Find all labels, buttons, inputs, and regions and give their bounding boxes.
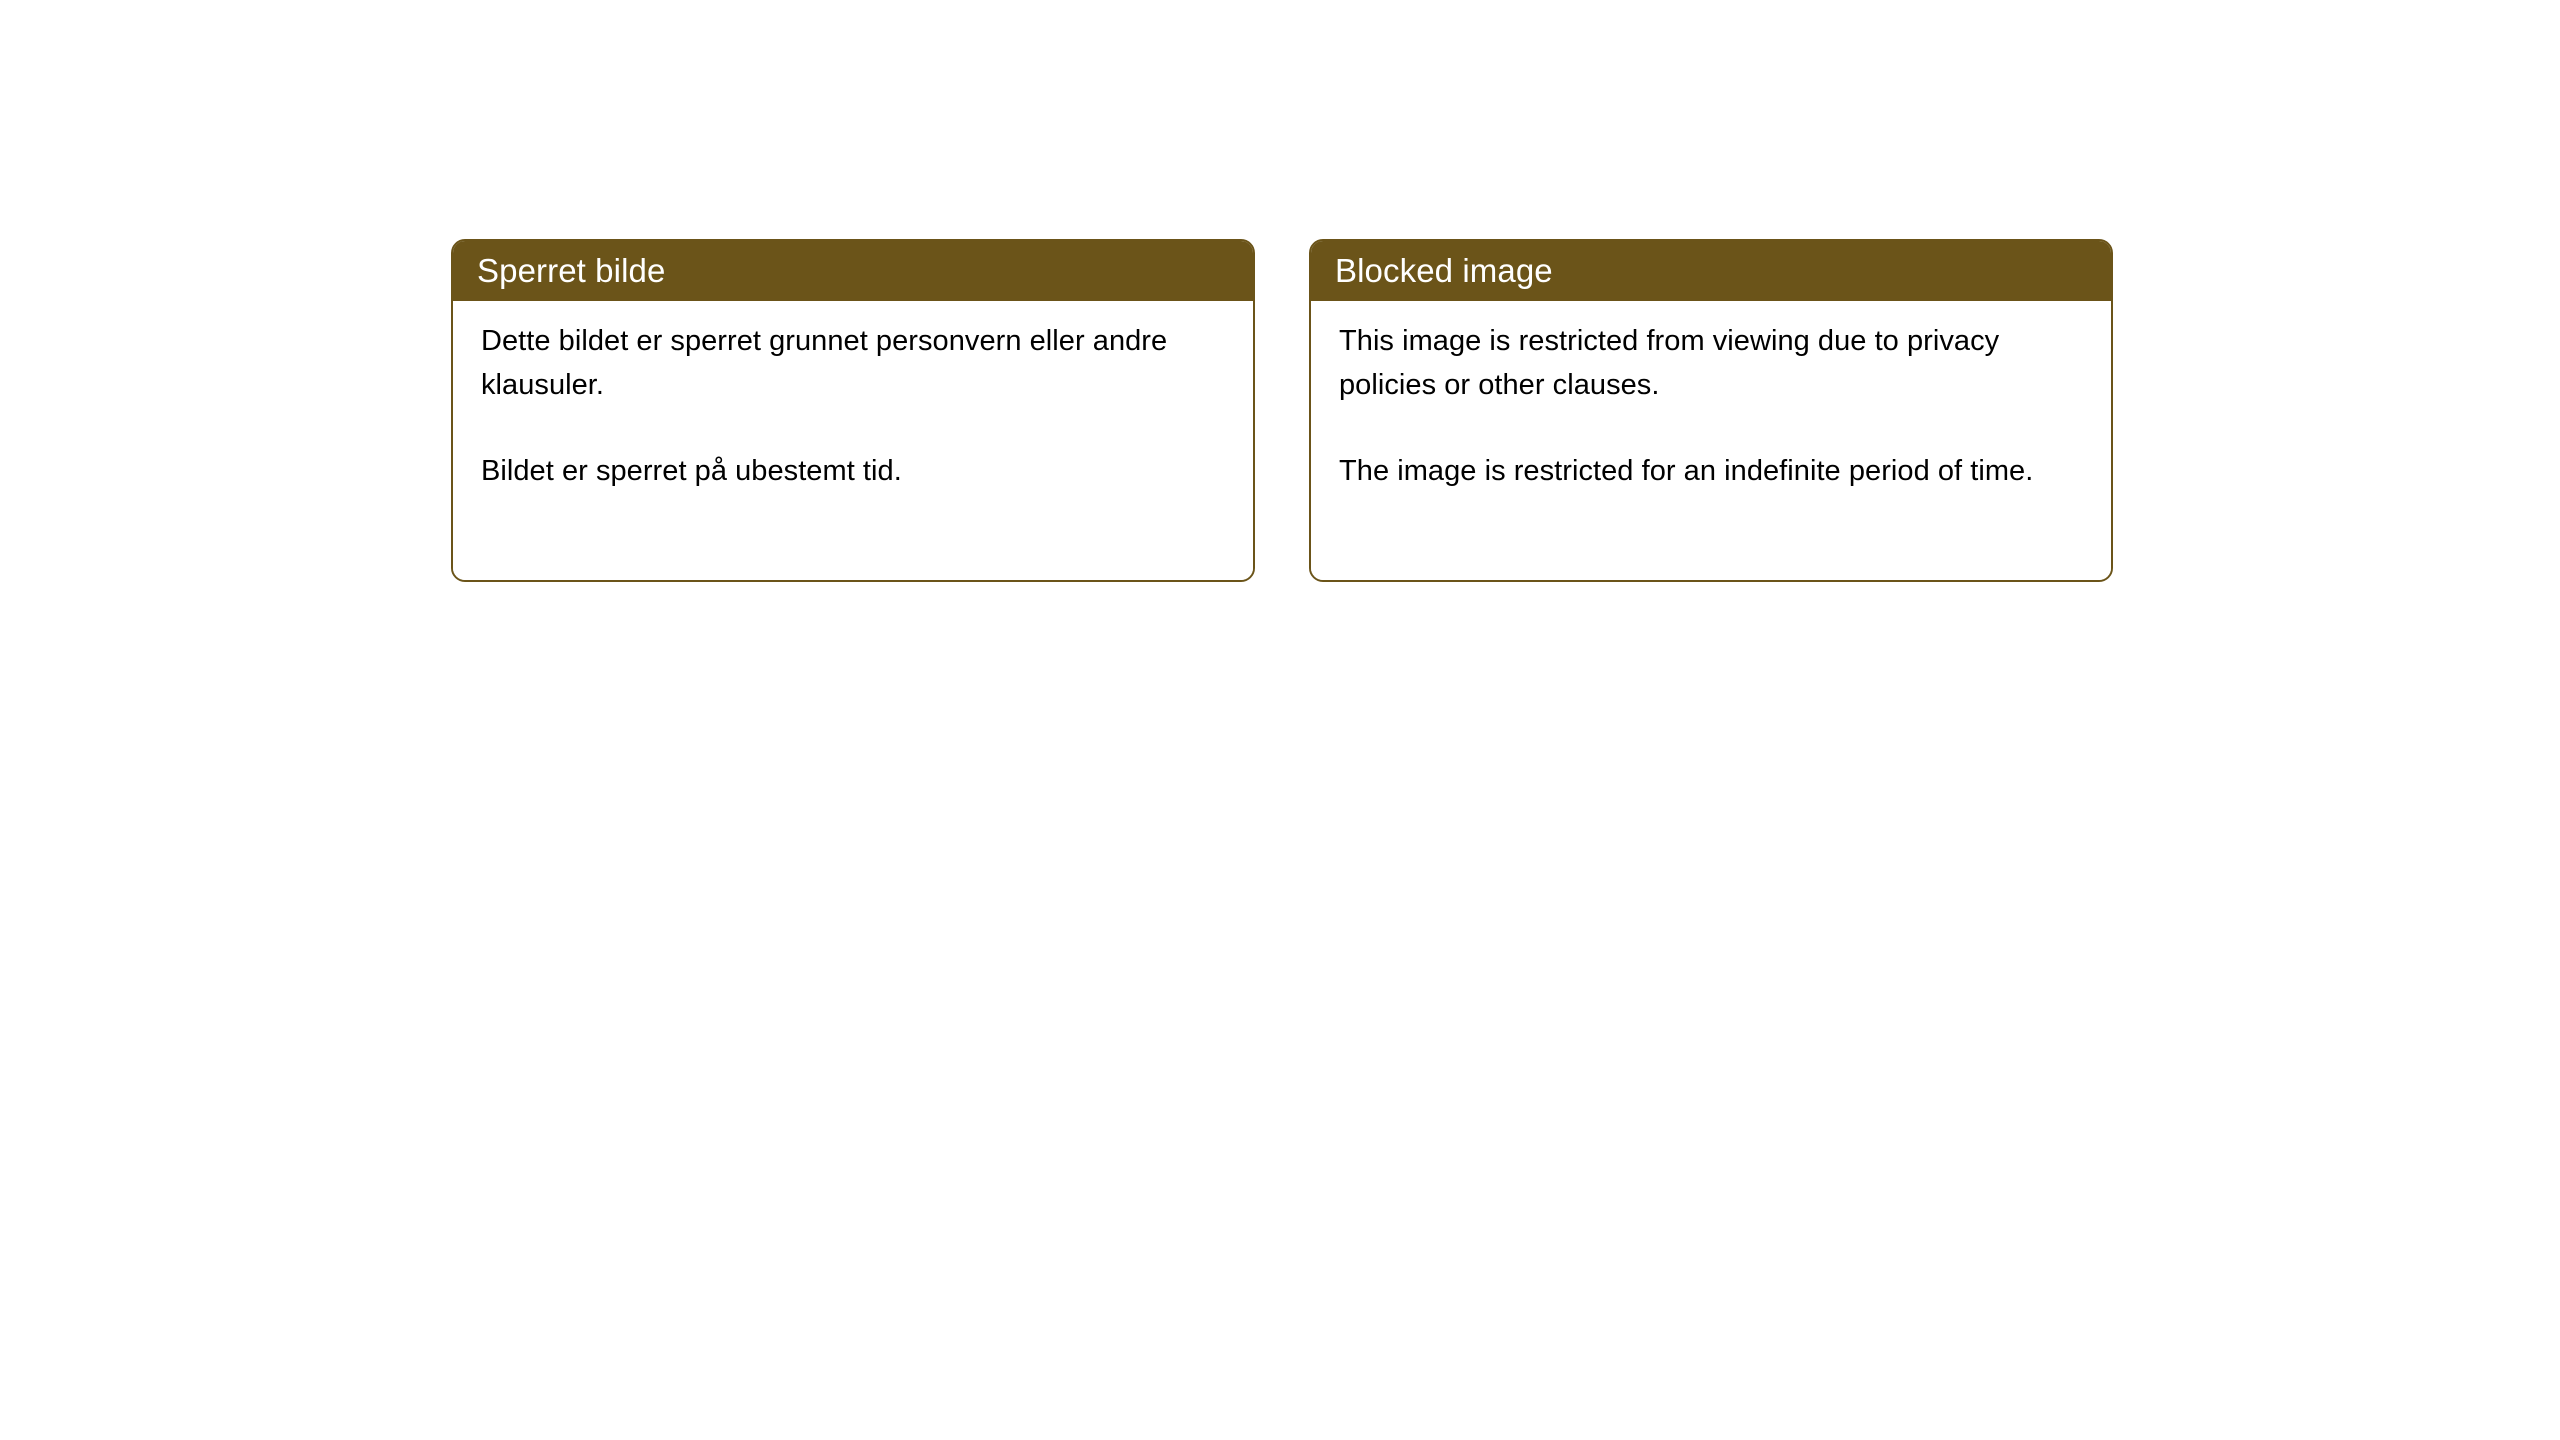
- page-canvas: Sperret bilde Dette bildet er sperret gr…: [0, 0, 2560, 1440]
- blocked-image-notice-no: Sperret bilde Dette bildet er sperret gr…: [451, 239, 1255, 582]
- notice-paragraph-reason-en: This image is restricted from viewing du…: [1339, 319, 2083, 407]
- notice-header-no: Sperret bilde: [453, 241, 1253, 301]
- notice-paragraph-duration-en: The image is restricted for an indefinit…: [1339, 449, 2083, 493]
- notice-paragraph-reason-no: Dette bildet er sperret grunnet personve…: [481, 319, 1225, 407]
- notice-paragraph-duration-no: Bildet er sperret på ubestemt tid.: [481, 449, 1225, 493]
- notice-title-en: Blocked image: [1335, 253, 1553, 289]
- blocked-image-notice-en: Blocked image This image is restricted f…: [1309, 239, 2113, 582]
- notice-body-en: This image is restricted from viewing du…: [1311, 301, 2111, 580]
- notice-title-no: Sperret bilde: [477, 253, 665, 289]
- notice-header-en: Blocked image: [1311, 241, 2111, 301]
- notice-body-no: Dette bildet er sperret grunnet personve…: [453, 301, 1253, 580]
